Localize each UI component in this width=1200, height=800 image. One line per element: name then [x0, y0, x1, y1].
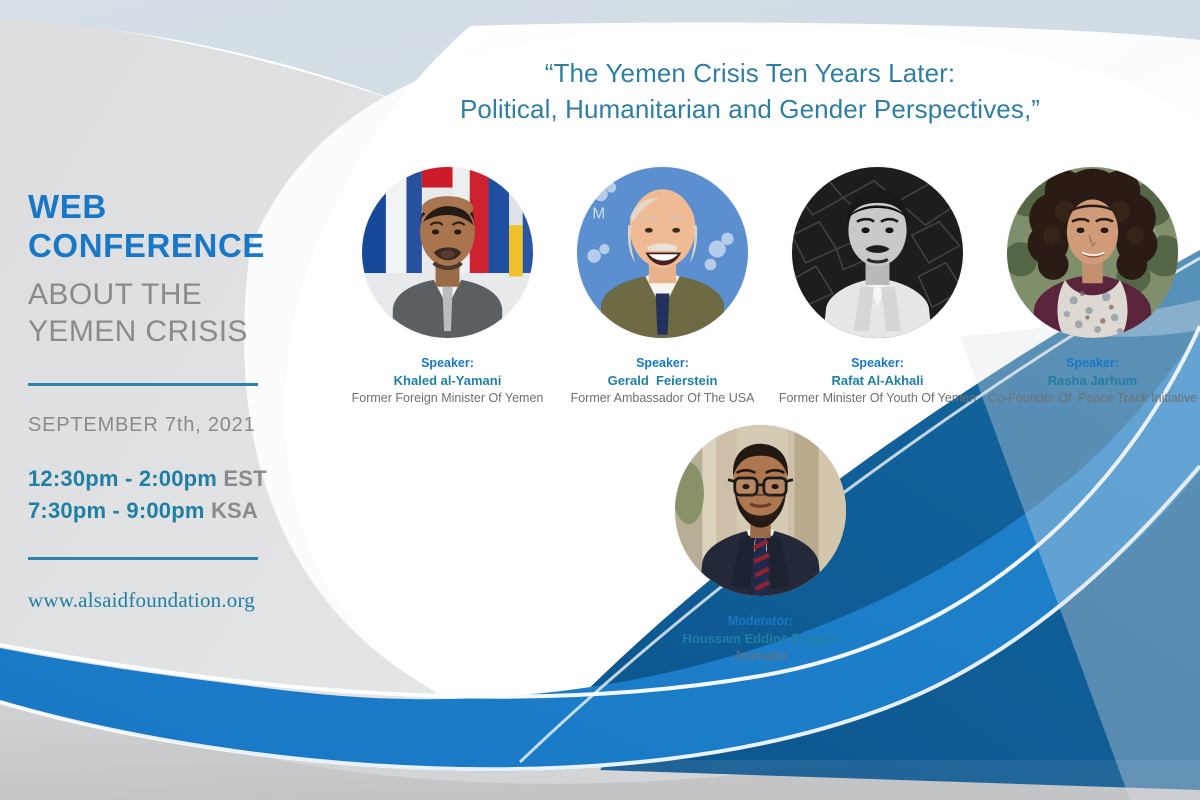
avatar: [1007, 167, 1178, 338]
speaker-role: Speaker:: [548, 355, 778, 372]
event-timezone-ksa: KSA: [211, 498, 258, 523]
speaker-name: Rafat Al-Akhali: [763, 372, 993, 390]
avatar: M: [577, 167, 748, 338]
avatar: [792, 167, 963, 338]
speaker-caption: Speaker: Khaled al-Yamani Former Foreign…: [333, 355, 563, 408]
event-subheading-line-2: YEMEN CRISIS: [28, 313, 318, 351]
moderator-caption: Moderator: Houssam Eddine Beggas Journal…: [646, 613, 876, 666]
speaker-role: Speaker:: [978, 355, 1200, 372]
avatar: [675, 425, 846, 596]
event-kicker: WEB CONFERENCE: [28, 188, 318, 266]
speaker-caption: Speaker: Gerald Feierstein Former Ambass…: [548, 355, 778, 408]
speaker-name: Rasha Jarhum: [978, 372, 1200, 390]
conference-poster: “The Yemen Crisis Ten Years Later: Polit…: [0, 0, 1200, 800]
event-time-ksa-row: 7:30pm - 9:00pm KSA: [28, 495, 318, 527]
event-kicker-line-2: CONFERENCE: [28, 227, 318, 266]
moderator-title: Journalist: [646, 648, 876, 666]
speakers-row: Speaker: Khaled al-Yamani Former Foreign…: [340, 167, 1200, 408]
speaker-card: Speaker: Rasha Jarhum Co-Founder Of Peac…: [985, 167, 1200, 408]
event-timezone-est: EST: [223, 466, 266, 491]
event-date: SEPTEMBER 7th, 2021: [28, 414, 318, 437]
speaker-title: Co-Founder Of Peace Track Initiative: [978, 390, 1200, 408]
speaker-role: Speaker:: [763, 355, 993, 372]
speaker-title: Former Foreign Minister Of Yemen: [333, 390, 563, 408]
divider-top: [28, 383, 258, 386]
event-subheading-line-1: ABOUT THE: [28, 278, 202, 311]
speaker-card: M: [555, 167, 770, 408]
event-times: 12:30pm - 2:00pm EST 7:30pm - 9:00pm KSA: [28, 463, 318, 527]
event-time-est: 12:30pm - 2:00pm: [28, 466, 217, 491]
organization-website[interactable]: www.alsaidfoundation.org: [28, 588, 318, 613]
speaker-role: Speaker:: [333, 355, 563, 372]
moderator-name: Houssam Eddine Beggas: [646, 630, 876, 648]
talk-title-line-2: Political, Humanitarian and Gender Persp…: [380, 92, 1120, 128]
moderator-card: Moderator: Houssam Eddine Beggas Journal…: [653, 425, 868, 666]
talk-title: “The Yemen Crisis Ten Years Later: Polit…: [380, 56, 1120, 128]
talk-title-line-1: “The Yemen Crisis Ten Years Later:: [545, 58, 956, 88]
moderator-role: Moderator:: [646, 613, 876, 630]
event-kicker-line-1: WEB: [28, 188, 107, 225]
speaker-caption: Speaker: Rasha Jarhum Co-Founder Of Peac…: [978, 355, 1200, 408]
svg-text:M: M: [592, 205, 605, 222]
speaker-title: Former Ambassador Of The USA: [548, 390, 778, 408]
event-subheading: ABOUT THE YEMEN CRISIS: [28, 276, 318, 351]
speaker-title: Former Minister Of Youth Of Yemen: [763, 390, 993, 408]
event-time-ksa: 7:30pm - 9:00pm: [28, 498, 205, 523]
speaker-caption: Speaker: Rafat Al-Akhali Former Minister…: [763, 355, 993, 408]
event-time-est-row: 12:30pm - 2:00pm EST: [28, 463, 318, 495]
event-info-panel: WEB CONFERENCE ABOUT THE YEMEN CRISIS SE…: [28, 188, 318, 613]
speaker-card: Speaker: Khaled al-Yamani Former Foreign…: [340, 167, 555, 408]
speaker-name: Gerald Feierstein: [548, 372, 778, 390]
speaker-card: Speaker: Rafat Al-Akhali Former Minister…: [770, 167, 985, 408]
speaker-name: Khaled al-Yamani: [333, 372, 563, 390]
divider-bottom: [28, 557, 258, 560]
avatar: [362, 167, 533, 338]
